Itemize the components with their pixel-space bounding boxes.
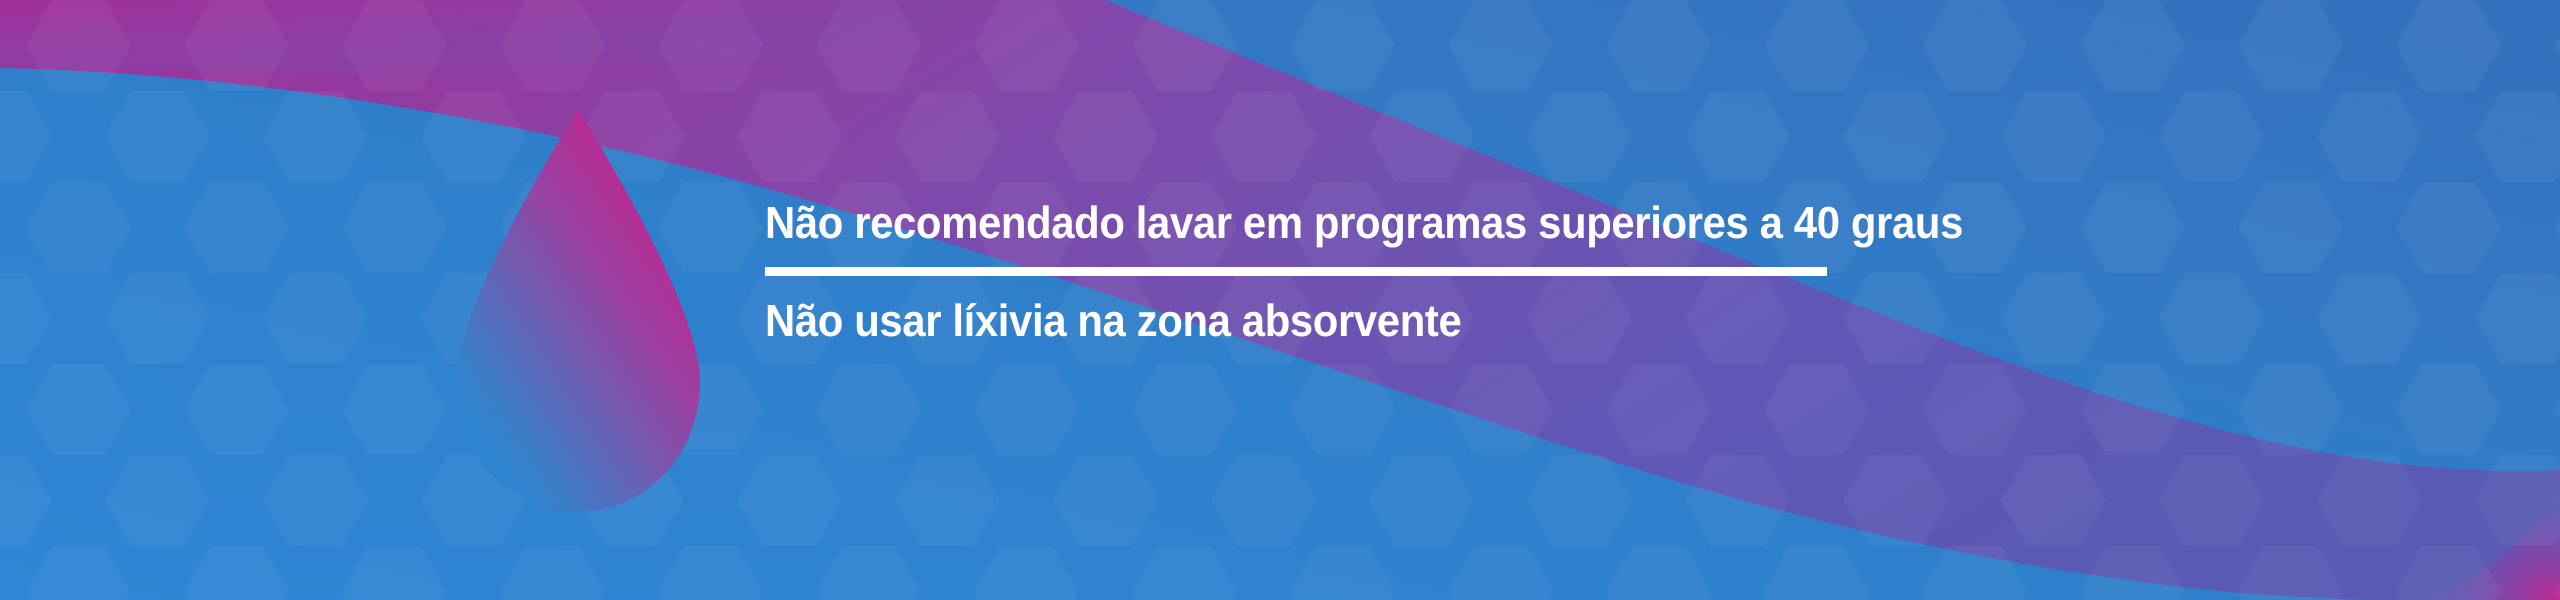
care-instructions-banner: Não recomendado lavar em programas super… [0, 0, 2560, 600]
care-instruction-line-1: Não recomendado lavar em programas super… [765, 196, 2346, 250]
care-instruction-line-2: Não usar líxivia na zona absorvente [765, 294, 2346, 348]
text-divider-rule [765, 267, 1827, 276]
banner-content: Não recomendado lavar em programas super… [0, 0, 2560, 600]
care-text-block: Não recomendado lavar em programas super… [765, 196, 2465, 348]
